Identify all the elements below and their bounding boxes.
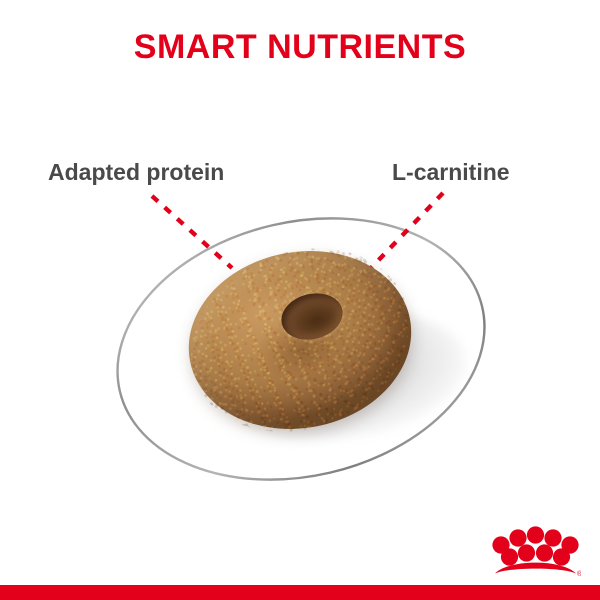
crown-logo-svg: ®: [489, 526, 581, 580]
footer-accent-bar: [0, 585, 600, 600]
registered-mark: ®: [577, 570, 581, 578]
poster-canvas: SMART NUTRIENTS: [0, 0, 600, 600]
royal-canin-crown-logo: ®: [489, 526, 581, 580]
kibble-piece: [186, 250, 418, 435]
callout-label-l-carnitine: L-carnitine: [392, 158, 510, 186]
callout-label-adapted-protein: Adapted protein: [48, 158, 224, 186]
